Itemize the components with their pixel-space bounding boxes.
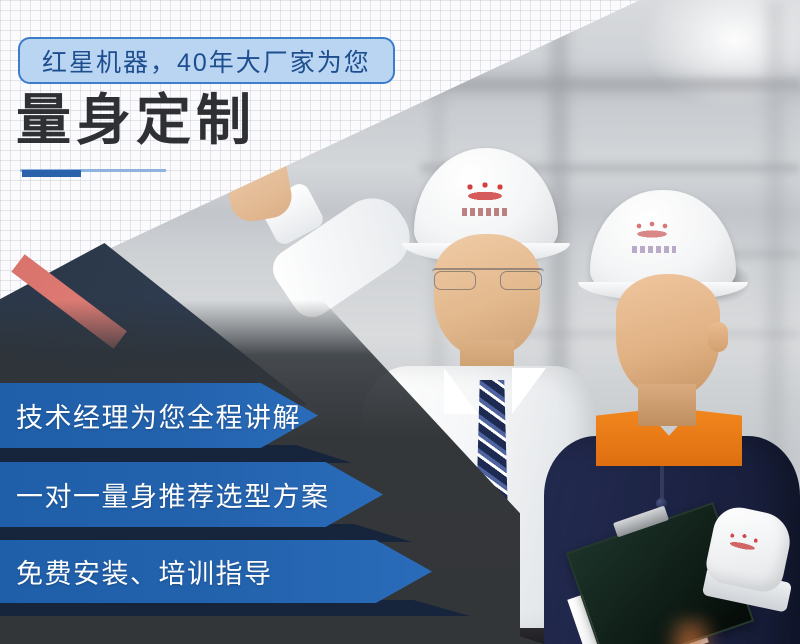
helmet-logo-icon (460, 180, 512, 206)
eyebrow-badge: 红星机器，40年大厂家为您 (18, 37, 395, 84)
face (434, 234, 540, 356)
feature-bar-2: 一对一量身推荐选型方案 (0, 462, 383, 527)
title-underline-dark (22, 170, 81, 177)
shirt-collar-right (512, 368, 546, 414)
page-title: 量身定制 (16, 93, 256, 148)
feature-bar-3: 免费安装、培训指导 (0, 540, 432, 603)
engineer-navy-uniform (556, 178, 800, 644)
background-bokeh (664, 618, 718, 644)
shirt-collar-left (444, 368, 478, 414)
helmet-logo-text (462, 208, 510, 216)
promo-banner: 红星机器，40年大厂家为您 量身定制 技术经理为您全程讲解 一对一量身推荐选型方… (0, 0, 800, 644)
face (616, 274, 720, 398)
helmet-logo-icon (630, 220, 676, 244)
feature-label: 技术经理为您全程讲解 (0, 396, 301, 435)
feature-label: 免费安装、培训指导 (0, 552, 273, 591)
feature-bar-1: 技术经理为您全程讲解 (0, 383, 318, 448)
feature-label: 一对一量身推荐选型方案 (0, 475, 330, 514)
eyeglasses-icon (432, 268, 544, 290)
factory-beam (420, 78, 800, 91)
neck (638, 384, 696, 426)
ear (708, 322, 728, 352)
helmet-logo-text (632, 246, 676, 253)
